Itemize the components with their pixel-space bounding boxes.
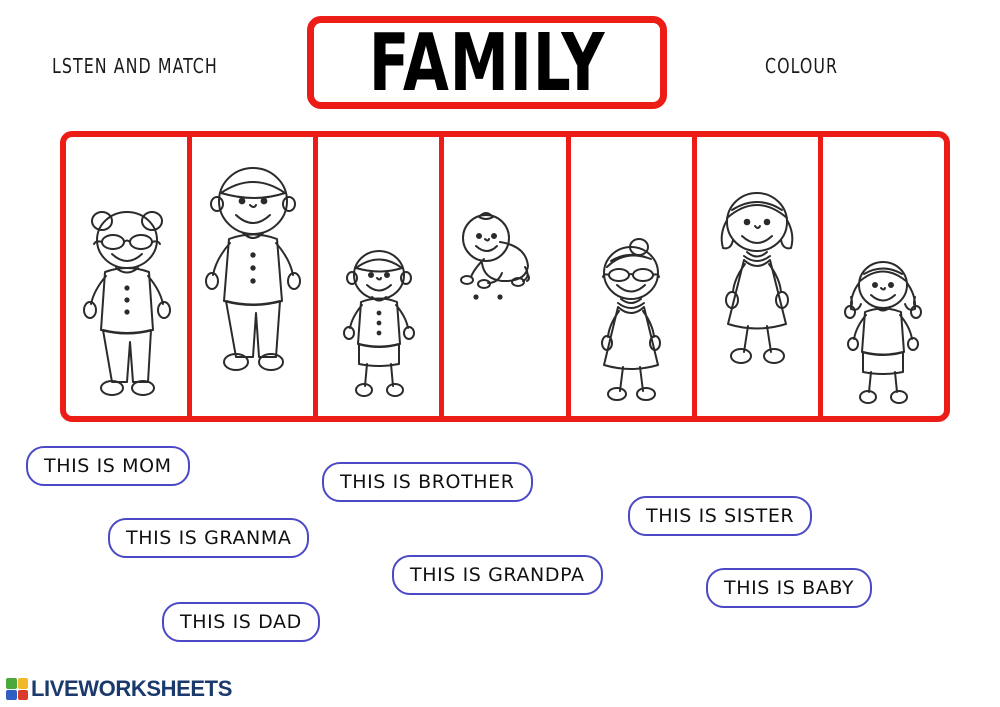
figure-panel-brother[interactable]: [318, 137, 444, 416]
liveworksheets-logo-icon: [6, 678, 28, 700]
figure-panel-sister[interactable]: [823, 137, 944, 416]
figure-panel-dad[interactable]: [192, 137, 318, 416]
answer-label-sister[interactable]: THIS IS SISTER: [628, 496, 812, 536]
figure-strip: [60, 131, 950, 422]
grandma-figure-icon: [583, 237, 679, 402]
answer-label-grandpa[interactable]: THIS IS GRANDPA: [392, 555, 603, 595]
answer-label-baby[interactable]: THIS IS BABY: [706, 568, 872, 608]
instruction-listen-and-match: LSTEN AND MATCH: [52, 54, 218, 78]
answer-label-mom[interactable]: THIS IS MOM: [26, 446, 190, 486]
baby-figure-icon: [455, 207, 555, 307]
dad-figure-icon: [193, 159, 313, 374]
worksheet-header: LSTEN AND MATCH FAMILY COLOUR: [0, 0, 1000, 124]
figure-panel-mom[interactable]: [697, 137, 823, 416]
instruction-colour: COLOUR: [765, 54, 838, 78]
figure-panel-grandpa[interactable]: [66, 137, 192, 416]
answer-label-granma[interactable]: THIS IS GRANMA: [108, 518, 309, 558]
logo-square-green: [6, 678, 17, 689]
title-box: FAMILY: [307, 16, 667, 109]
figure-panel-grandma[interactable]: [571, 137, 697, 416]
sister-figure-icon: [835, 257, 931, 405]
grandpa-figure-icon: [72, 202, 182, 402]
figure-panel-baby[interactable]: [444, 137, 570, 416]
logo-square-red: [18, 690, 29, 701]
logo-square-blue: [6, 690, 17, 701]
brother-figure-icon: [333, 247, 425, 397]
answer-label-dad[interactable]: THIS IS DAD: [162, 602, 320, 642]
liveworksheets-brand-text: LIVEWORKSHEETS: [31, 676, 232, 702]
mom-figure-icon: [704, 182, 810, 367]
answer-label-brother[interactable]: THIS IS BROTHER: [322, 462, 533, 502]
page-title: FAMILY: [369, 23, 605, 103]
logo-square-yellow: [18, 678, 29, 689]
liveworksheets-logo[interactable]: LIVEWORKSHEETS: [6, 676, 232, 702]
